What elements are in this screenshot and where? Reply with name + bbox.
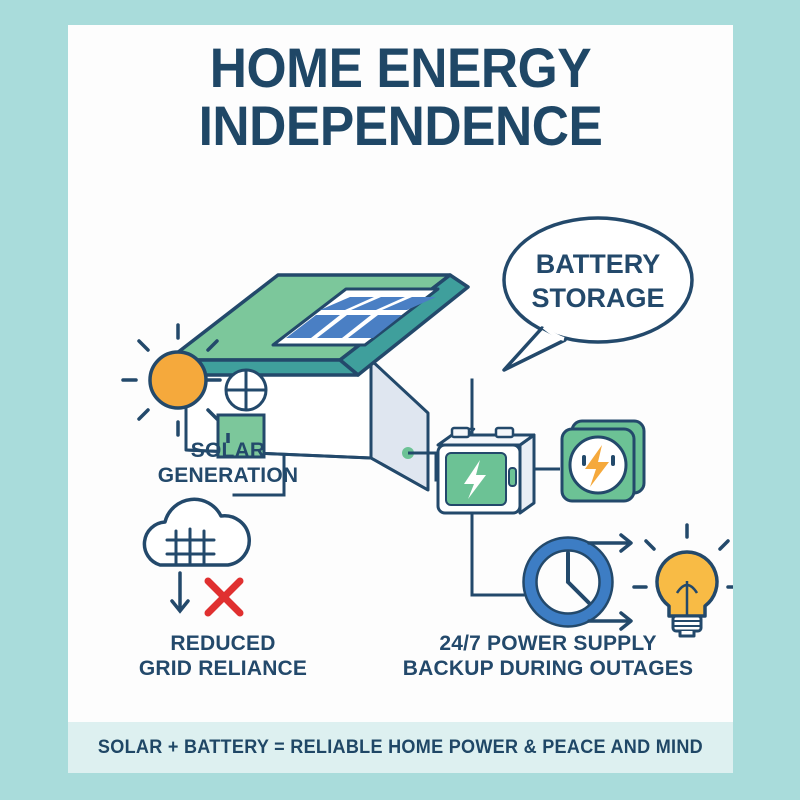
caption-solar-line-1: SOLAR [191, 439, 266, 462]
caption-backup-line-2: BACKUP DURING OUTAGES [403, 657, 693, 680]
down-arrow-icon [172, 573, 188, 611]
callout-bubble [504, 218, 692, 342]
lightbulb-base [673, 616, 701, 631]
bottom-banner: SOLAR + BATTERY = RELIABLE HOME POWER & … [68, 722, 733, 773]
caption-solar-generation: SOLAR GENERATION [128, 438, 328, 488]
caption-grid-line-2: GRID RELIANCE [139, 657, 307, 680]
poster-card: HOME ENERGY INDEPENDENCE [68, 25, 733, 773]
caption-reduced-grid-reliance: REDUCED GRID RELIANCE [123, 631, 323, 681]
caption-backup-line-1: 24/7 POWER SUPPLY [439, 632, 656, 655]
caption-solar-line-2: GENERATION [158, 464, 298, 487]
outlet-slot [582, 455, 586, 466]
battery-side [520, 435, 534, 513]
callout-line-2: STORAGE [531, 283, 664, 313]
clock-hands [568, 553, 589, 603]
red-x-icon [208, 581, 240, 613]
battery-indicator [509, 468, 516, 486]
banner-text: SOLAR + BATTERY = RELIABLE HOME POWER & … [98, 737, 703, 759]
power-outlet-icon [562, 421, 644, 501]
battery-terminal [452, 428, 469, 437]
caption-backup-power: 24/7 POWER SUPPLY BACKUP DURING OUTAGES [398, 631, 698, 681]
battery-terminal [496, 428, 513, 437]
clock-lightbulb-icon [524, 525, 734, 636]
infographic-poster: HOME ENERGY INDEPENDENCE [0, 0, 800, 800]
callout-line-1: BATTERY [536, 249, 661, 279]
sun-disc [150, 352, 206, 408]
caption-grid-line-1: REDUCED [170, 632, 275, 655]
battery-storage-callout: BATTERY STORAGE [504, 218, 692, 370]
battery-icon [438, 428, 534, 513]
outlet-slot [611, 455, 615, 466]
cloud-grid-down-x-icon [144, 499, 249, 613]
house-side-wall [371, 360, 428, 490]
